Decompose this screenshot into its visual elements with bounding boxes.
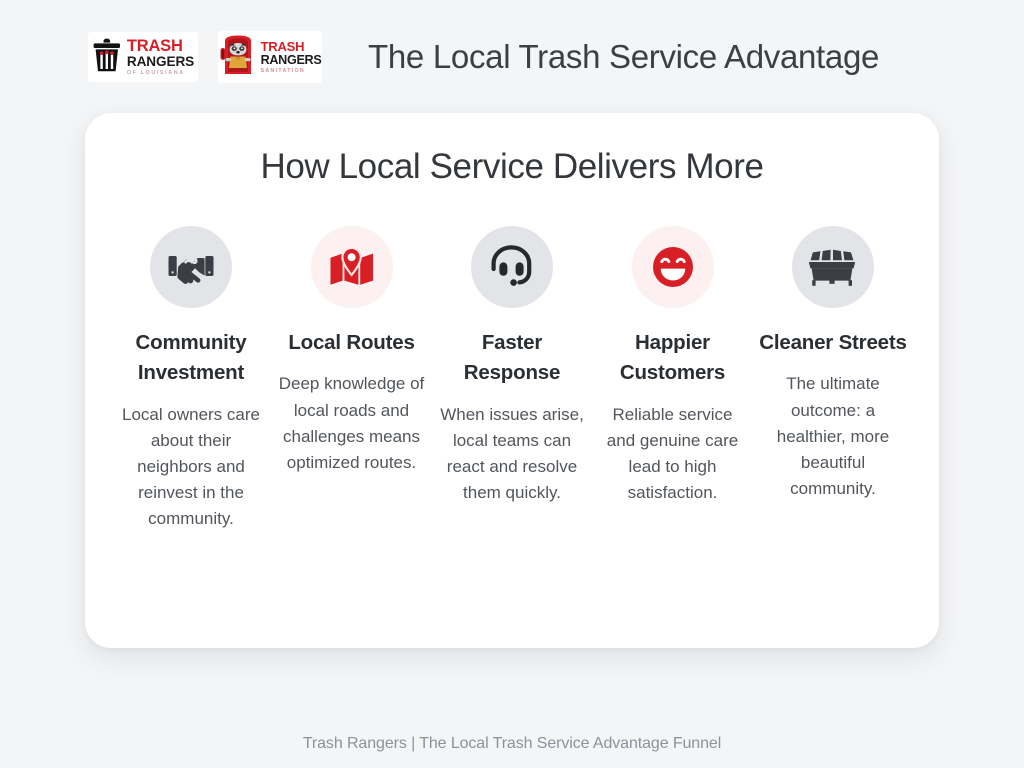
- benefit-heading: Local Routes: [288, 328, 414, 358]
- benefit-column-cleaner-streets: Cleaner Streets The ultimate outcome: a …: [753, 226, 913, 502]
- benefit-heading: Cleaner Streets: [759, 328, 906, 358]
- card-title: How Local Service Delivers More: [85, 147, 939, 187]
- headset-icon: [471, 226, 553, 308]
- benefit-body: The ultimate outcome: a healthier, more …: [759, 371, 907, 502]
- logo-trash-rangers-of-louisiana: TRASH RANGERS OF LOUISIANA: [88, 32, 198, 82]
- benefit-body: Reliable service and genuine care lead t…: [599, 402, 747, 507]
- logo-line-2: RANGERS: [127, 55, 194, 69]
- content-card: How Local Service Delivers More Communit: [85, 113, 939, 648]
- benefit-body: When issues arise, local teams can react…: [438, 402, 586, 507]
- logo-trash-rangers-sanitation: TRASH RANGERS SANITATION: [218, 31, 322, 83]
- trash-can-icon: [92, 38, 122, 77]
- footer-caption: Trash Rangers | The Local Trash Service …: [0, 735, 1024, 753]
- benefit-body: Deep knowledge of local roads and challe…: [278, 371, 426, 476]
- handshake-icon: [150, 226, 232, 308]
- page-title: The Local Trash Service Advantage: [368, 38, 879, 76]
- benefit-heading: Community Investment: [116, 328, 266, 389]
- benefit-column-faster-response: Faster Response When issues arise, local…: [432, 226, 592, 506]
- benefit-heading: Faster Response: [437, 328, 587, 389]
- dumpster-icon: [792, 226, 874, 308]
- logo2-line-1: TRASH: [261, 40, 322, 53]
- benefit-column-happier-customers: Happier Customers Reliable service and g…: [593, 226, 753, 506]
- logo-line-1: TRASH: [127, 38, 194, 55]
- benefit-body: Local owners care about their neighbors …: [117, 402, 265, 533]
- page-header: TRASH RANGERS OF LOUISIANA: [0, 26, 1024, 88]
- logo-line-3: OF LOUISIANA: [127, 71, 194, 76]
- smiley-face-icon: [632, 226, 714, 308]
- logo2-line-2: RANGERS: [261, 54, 322, 67]
- benefit-heading: Happier Customers: [598, 328, 748, 389]
- slide-root: TRASH RANGERS OF LOUISIANA: [0, 0, 1024, 768]
- logo2-line-3: SANITATION: [261, 69, 322, 74]
- benefit-column-local-routes: Local Routes Deep knowledge of local roa…: [272, 226, 432, 476]
- benefits-columns: Community Investment Local owners care a…: [111, 226, 913, 533]
- benefit-column-community-investment: Community Investment Local owners care a…: [111, 226, 271, 533]
- map-location-icon: [311, 226, 393, 308]
- raccoon-mascot-icon: [219, 34, 257, 81]
